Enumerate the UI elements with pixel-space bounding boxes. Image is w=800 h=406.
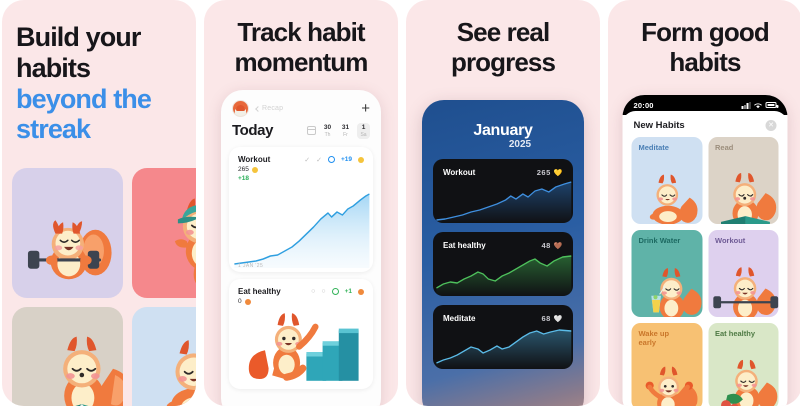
habit-card-workout[interactable]: Workout ✓ ✓ +19 265 +18 <box>229 147 373 272</box>
recap-back-link[interactable]: Recap <box>256 105 283 112</box>
habit-value-group: 68 🤍 <box>541 314 563 323</box>
progress-card-header: Eat healthy 48 🤎 <box>443 241 563 250</box>
signal-icon <box>742 102 751 109</box>
squirrel-meditate-illustration <box>147 319 196 406</box>
habit-option-drink-water[interactable]: Drink Water <box>632 230 703 317</box>
habit-score-row: 0 <box>238 298 364 305</box>
sheet-title: New Habits <box>634 120 685 131</box>
year-label: 2025 <box>456 139 584 150</box>
date-number: 1 <box>357 124 370 132</box>
habit-option-label: Eat healthy <box>715 329 755 338</box>
month-header: January 2025 <box>422 100 584 150</box>
empty-circle-icon[interactable]: ○ <box>321 288 325 295</box>
medal-icon <box>245 299 251 305</box>
habit-value: 48 <box>541 241 550 250</box>
wifi-icon <box>754 102 763 109</box>
headline-accent-line-1: beyond the <box>16 84 186 115</box>
date-weekday: Th <box>321 132 334 139</box>
habit-option-label: Wake up early <box>639 329 670 347</box>
date-number: 30 <box>321 124 334 132</box>
squirrel-read-illustration <box>32 317 123 406</box>
page-title: Build your habits beyond the streak <box>2 22 196 145</box>
habit-value-group: 48 🤎 <box>541 241 563 250</box>
add-habit-button[interactable]: + <box>361 101 370 116</box>
habit-delta: +18 <box>238 175 249 182</box>
habit-tile-workout[interactable] <box>12 168 123 298</box>
medal-icon <box>358 157 364 163</box>
habit-option-workout[interactable]: Workout <box>708 230 779 317</box>
date-cell-selected[interactable]: 1 Sa <box>357 123 370 139</box>
battery-icon <box>766 102 777 108</box>
chevron-left-icon <box>255 106 261 112</box>
squirrel-wake-up-illustration <box>637 358 702 406</box>
progress-card-header: Meditate 68 🤍 <box>443 314 563 323</box>
squirrel-meditate-illustration <box>636 163 702 224</box>
today-label: Today <box>232 122 273 139</box>
squirrel-eat-healthy-illustration <box>711 354 779 406</box>
habit-option-label: Read <box>715 143 733 152</box>
habit-option-eat-healthy[interactable]: Eat healthy <box>708 323 779 406</box>
check-icon[interactable]: ✓ <box>316 156 322 164</box>
heart-icon: 🤎 <box>554 242 563 250</box>
habit-score: 0 <box>238 298 242 305</box>
progress-card-meditate[interactable]: Meditate 68 🤍 <box>433 305 573 369</box>
heart-icon: 💛 <box>554 169 563 177</box>
progress-card-eat-healthy[interactable]: Eat healthy 48 🤎 <box>433 232 573 296</box>
calendar-icon[interactable] <box>307 126 316 135</box>
date-weekday: Fr <box>339 132 352 139</box>
habit-tile-run[interactable] <box>132 168 197 298</box>
progress-card-workout[interactable]: Workout 265 💛 <box>433 159 573 223</box>
habit-option-label: Drink Water <box>639 236 681 245</box>
progress-ring-icon[interactable] <box>328 156 335 163</box>
page-title: Form good habits <box>608 18 800 77</box>
habit-tile-grid <box>12 168 196 406</box>
headline-line-1: Build your <box>16 22 186 53</box>
headline-line-2: momentum <box>214 48 388 78</box>
day-selector-row: Today 30 Th 31 Fr 1 Sa <box>221 120 381 147</box>
squirrel-workout-illustration <box>711 260 779 317</box>
habit-name: Meditate <box>443 314 475 323</box>
habit-tile-meditate[interactable] <box>132 307 197 406</box>
habit-option-label: Meditate <box>639 143 669 152</box>
habit-delta-badge: +1 <box>345 288 352 295</box>
squirrel-read-illustration <box>709 163 778 224</box>
date-cell[interactable]: 31 Fr <box>339 123 352 139</box>
page-title: Track habit momentum <box>204 18 398 77</box>
recap-label: Recap <box>262 105 283 112</box>
progress-ring-icon[interactable] <box>332 288 339 295</box>
habit-value: 68 <box>541 314 550 323</box>
panel-see-progress: See real progress January 2025 Workout 2… <box>406 0 600 406</box>
habit-value: 265 <box>537 168 551 177</box>
panel-build-habits: Build your habits beyond the streak <box>2 0 196 406</box>
sheet-header: New Habits ✕ <box>623 111 788 137</box>
screenshot-gallery: Build your habits beyond the streak <box>0 0 800 406</box>
habit-option-read[interactable]: Read <box>708 137 779 224</box>
panel-form-good-habits: Form good habits 20:00 New Habits ✕ <box>608 0 800 406</box>
habit-header: Workout ✓ ✓ +19 <box>238 155 364 164</box>
habit-option-wake-up-early[interactable]: Wake up early <box>632 323 703 406</box>
date-strip: 30 Th 31 Fr 1 Sa <box>307 123 370 139</box>
habit-option-meditate[interactable]: Meditate <box>632 137 703 224</box>
squirrel-stairs-illustration <box>229 307 373 389</box>
headline-line-2: habits <box>618 48 792 78</box>
squirrel-drink-water-illustration <box>637 258 702 317</box>
habit-marks: ○ ○ +1 <box>311 288 364 295</box>
panel-track-momentum: Track habit momentum Recap + Today 30 Th <box>204 0 398 406</box>
habit-score-row: 265 <box>238 166 364 173</box>
habit-tile-read[interactable] <box>12 307 123 406</box>
status-indicators <box>742 102 777 109</box>
habit-trend-chart <box>433 252 573 296</box>
avatar[interactable] <box>232 100 249 117</box>
habit-marks: ✓ ✓ +19 <box>304 156 364 164</box>
progress-card-header: Workout 265 💛 <box>443 168 563 177</box>
habit-momentum-chart: 1 JAN '25 <box>229 186 373 272</box>
habit-delta-badge: +19 <box>341 156 352 163</box>
page-title: See real progress <box>406 18 600 77</box>
date-weekday: Sa <box>357 132 370 139</box>
headline-line-1: See real <box>416 18 590 48</box>
check-icon[interactable]: ✓ <box>304 156 310 164</box>
headline-line-1: Form good <box>618 18 792 48</box>
habit-name: Workout <box>238 155 270 164</box>
habit-trend-chart <box>433 325 573 369</box>
headline-line-2: habits <box>16 53 186 84</box>
headline-line-2: progress <box>416 48 590 78</box>
habit-name: Eat healthy <box>443 241 486 250</box>
habit-card-eat-healthy[interactable]: Eat healthy ○ ○ +1 0 <box>229 279 373 389</box>
headline-line-1: Track habit <box>214 18 388 48</box>
habit-delta-row: +18 <box>238 175 364 182</box>
habit-trend-chart <box>433 179 573 223</box>
habit-name: Eat healthy <box>238 287 281 296</box>
chart-x-axis-label: 1 JAN '25 <box>238 263 263 269</box>
new-habits-sheet: New Habits ✕ Meditate <box>623 111 788 406</box>
habit-name: Workout <box>443 168 475 177</box>
empty-circle-icon[interactable]: ○ <box>311 288 315 295</box>
phone-mockup-today: Recap + Today 30 Th 31 Fr <box>221 90 381 406</box>
date-cell[interactable]: 30 Th <box>321 123 334 139</box>
headline-accent-line-2: streak <box>16 114 186 145</box>
status-time: 20:00 <box>634 101 654 110</box>
habit-picker-grid: Meditate <box>623 137 788 406</box>
habit-option-label: Workout <box>715 236 745 245</box>
phone-mockup-progress: January 2025 Workout 265 💛 <box>422 100 584 406</box>
month-label: January <box>422 122 584 140</box>
app-top-bar: Recap + <box>221 90 381 120</box>
squirrel-run-illustration <box>156 181 196 298</box>
habit-header: Eat healthy ○ ○ +1 <box>238 287 364 296</box>
medal-icon <box>252 167 258 173</box>
date-number: 31 <box>339 124 352 132</box>
habit-score: 265 <box>238 166 249 173</box>
close-icon[interactable]: ✕ <box>766 120 777 131</box>
squirrel-workout-illustration <box>27 199 122 295</box>
heart-icon: 🤍 <box>554 315 563 323</box>
phone-mockup-new-habits: 20:00 New Habits ✕ Medita <box>623 95 788 406</box>
habit-value-group: 265 💛 <box>537 168 563 177</box>
medal-icon <box>358 289 364 295</box>
